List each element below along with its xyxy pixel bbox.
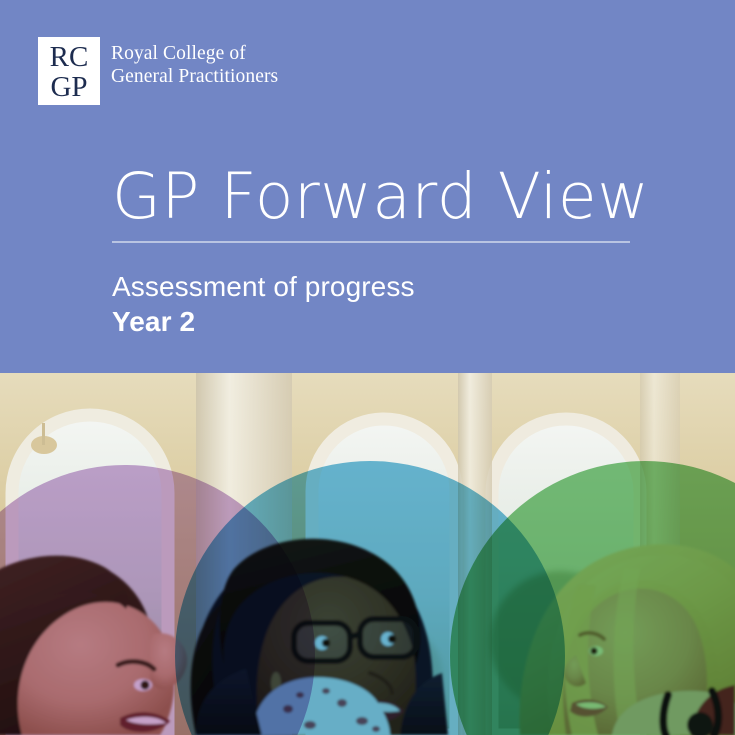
logo-abbreviation-line-1: RC	[50, 42, 89, 72]
photograph-scene	[0, 373, 735, 735]
page-edition: Year 2	[112, 304, 632, 340]
organisation-wordmark: Royal College of General Practitioners	[111, 37, 278, 88]
rcgp-logo-mark: RC GP	[38, 37, 100, 105]
page-title: GP Forward View	[112, 160, 632, 234]
rcgp-logo-lockup: RC GP Royal College of General Practitio…	[38, 37, 278, 105]
organisation-name-line-2: General Practitioners	[111, 66, 278, 89]
report-cover: RC GP Royal College of General Practitio…	[0, 0, 735, 735]
title-block: GP Forward View Assessment of progress Y…	[112, 160, 632, 340]
photograph-illustration	[0, 373, 735, 735]
page-subtitle: Assessment of progress	[112, 269, 632, 304]
cover-photograph	[0, 373, 735, 735]
logo-abbreviation-line-2: GP	[50, 72, 87, 102]
title-divider	[112, 241, 630, 243]
organisation-name-line-1: Royal College of	[111, 43, 278, 66]
cover-header-band: RC GP Royal College of General Practitio…	[0, 0, 735, 373]
